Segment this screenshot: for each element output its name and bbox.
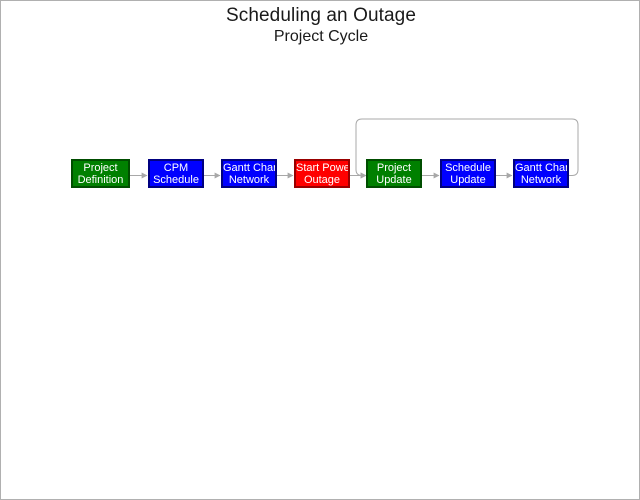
node-label-line2: Schedule xyxy=(150,174,202,186)
node-label-line1: CPM xyxy=(150,162,202,174)
diagram-canvas: Scheduling an Outage Project Cycle Proje… xyxy=(0,0,640,500)
node-label-line2: Definition xyxy=(73,174,128,186)
node-label-line1: Schedule xyxy=(442,162,494,174)
node-label-line2: Update xyxy=(368,174,420,186)
node-label-line2: Network xyxy=(515,174,567,186)
node-label-line1: Project xyxy=(73,162,128,174)
node-start-power-outage[interactable]: Start Power Outage xyxy=(294,159,350,188)
connector-layer xyxy=(1,1,640,500)
node-project-update[interactable]: Project Update xyxy=(366,159,422,188)
node-label-line2: Update xyxy=(442,174,494,186)
node-gantt-chart-network-2[interactable]: Gantt Chart Network xyxy=(513,159,569,188)
node-schedule-update[interactable]: Schedule Update xyxy=(440,159,496,188)
node-gantt-chart-network-1[interactable]: Gantt Chart Network xyxy=(221,159,277,188)
node-project-definition[interactable]: Project Definition xyxy=(71,159,130,188)
node-label-line1: Project xyxy=(368,162,420,174)
node-cpm-schedule[interactable]: CPM Schedule xyxy=(148,159,204,188)
node-label-line1: Gantt Chart xyxy=(515,162,567,174)
node-label-line2: Network xyxy=(223,174,275,186)
node-label-line1: Gantt Chart xyxy=(223,162,275,174)
node-label-line2: Outage xyxy=(296,174,348,186)
node-label-line1: Start Power xyxy=(296,162,348,174)
